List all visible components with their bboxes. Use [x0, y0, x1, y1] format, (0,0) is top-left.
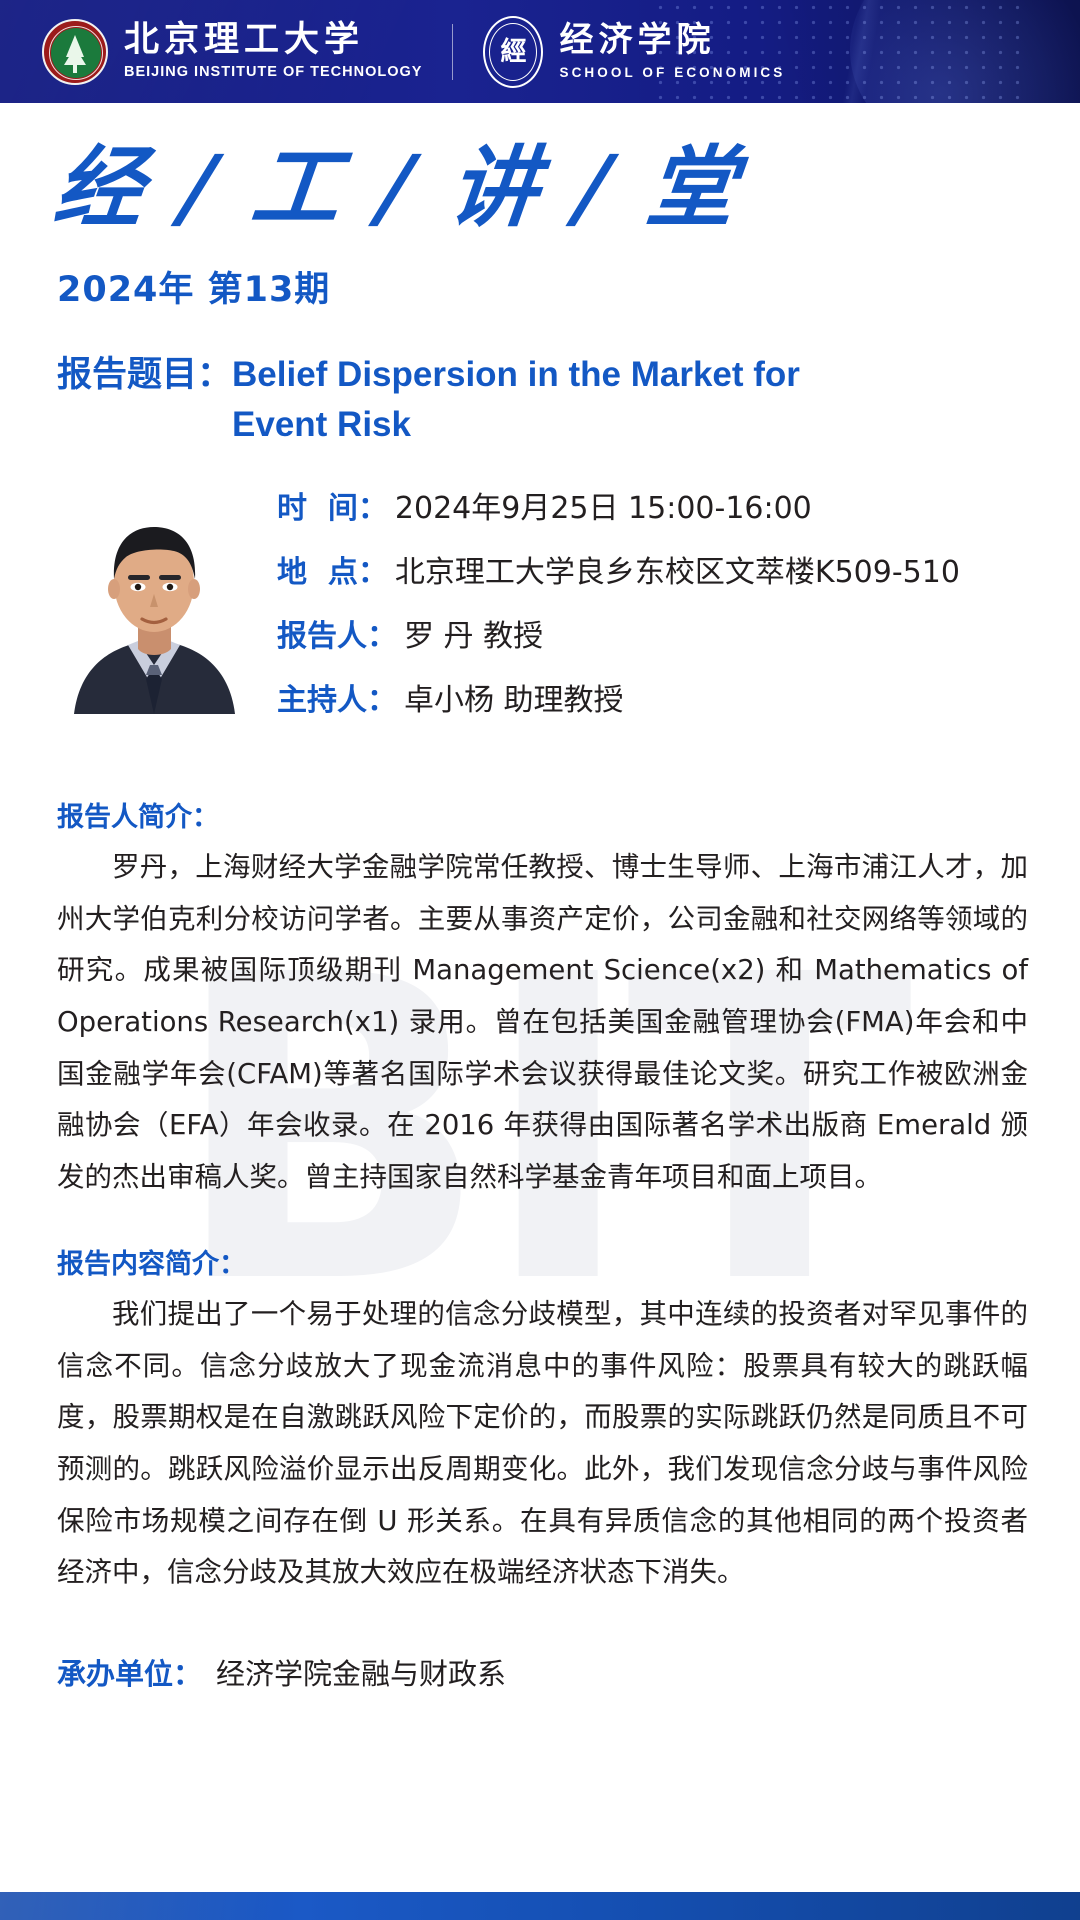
logo-group: 北京理工大学 BEIJING INSTITUTE OF TECHNOLOGY 經…: [42, 0, 785, 103]
info-label-time: 时 间：: [277, 491, 388, 527]
info-label-location: 地 点：: [277, 555, 388, 591]
abstract-section: 报告内容简介： 我们提出了一个易于处理的信念分歧模型，其中连续的投资者对罕见事件…: [0, 1242, 1080, 1599]
school-name-en: SCHOOL OF ECONOMICS: [559, 66, 785, 80]
info-label-host: 主持人：: [277, 683, 397, 719]
university-name-cn: 北京理工大学: [124, 23, 422, 58]
info-value-host: 卓小杨 助理教授: [404, 683, 624, 719]
university-wordmark: 北京理工大学 BEIJING INSTITUTE OF TECHNOLOGY: [124, 23, 422, 80]
footer-bar: [0, 1892, 1080, 1920]
poster-root: BIT 北京理工大学 BEIJING INSTITUTE OF TECHNOLO…: [0, 0, 1080, 1920]
info-value-speaker: 罗 丹 教授: [404, 619, 543, 655]
school-seal-icon: 經: [483, 16, 543, 88]
talk-title: Belief Dispersion in the Market for Even…: [232, 350, 832, 452]
issue-number: 2024年 第13期: [57, 261, 1080, 312]
info-item-location: 地 点： 北京理工大学良乡东校区文萃楼K509-510: [277, 555, 1057, 591]
bio-section: 报告人简介： 罗丹，上海财经大学金融学院常任教授、博士生导师、上海市浦江人才，加…: [0, 795, 1080, 1204]
talk-title-block: 报告题目： Belief Dispersion in the Market fo…: [57, 350, 1007, 452]
bit-seal-icon: [42, 19, 108, 85]
talk-title-label: 报告题目：: [57, 350, 232, 401]
info-item-time: 时 间： 2024年9月25日 15:00-16:00: [277, 491, 1057, 527]
event-info-row: 时 间： 2024年9月25日 15:00-16:00 地 点： 北京理工大学良…: [0, 491, 1080, 741]
school-seal-glyph: 經: [500, 39, 526, 65]
school-name-cn: 经济学院: [559, 23, 785, 57]
speaker-portrait: [66, 499, 243, 714]
abstract-text: 我们提出了一个易于处理的信念分歧模型，其中连续的投资者对罕见事件的信念不同。信念…: [57, 1289, 1028, 1599]
organizer-value: 经济学院金融与财政系: [216, 1651, 506, 1693]
poster-content: 经 / 工 / 讲 / 堂 2024年 第13期 报告题目： Belief Di…: [0, 103, 1080, 1693]
organizer-line: 承办单位： 经济学院金融与财政系: [0, 1651, 1080, 1693]
university-name-en: BEIJING INSTITUTE OF TECHNOLOGY: [124, 65, 422, 80]
info-value-time: 2024年9月25日 15:00-16:00: [395, 491, 812, 527]
school-wordmark: 经济学院 SCHOOL OF ECONOMICS: [559, 23, 785, 80]
header-bar: 北京理工大学 BEIJING INSTITUTE OF TECHNOLOGY 經…: [0, 0, 1080, 103]
bio-text: 罗丹，上海财经大学金融学院常任教授、博士生导师、上海市浦江人才，加州大学伯克利分…: [57, 842, 1028, 1204]
bio-heading: 报告人简介：: [57, 795, 1028, 834]
logo-divider: [452, 24, 453, 80]
event-info-list: 时 间： 2024年9月25日 15:00-16:00 地 点： 北京理工大学良…: [277, 491, 1057, 719]
info-item-host: 主持人： 卓小杨 助理教授: [277, 683, 1057, 719]
series-brush-title: 经 / 工 / 讲 / 堂: [50, 138, 1080, 237]
organizer-label: 承办单位：: [57, 1651, 202, 1693]
info-item-speaker: 报告人： 罗 丹 教授: [277, 619, 1057, 655]
info-label-speaker: 报告人：: [277, 619, 397, 655]
info-value-location: 北京理工大学良乡东校区文萃楼K509-510: [395, 555, 960, 591]
abstract-heading: 报告内容简介：: [57, 1242, 1028, 1281]
